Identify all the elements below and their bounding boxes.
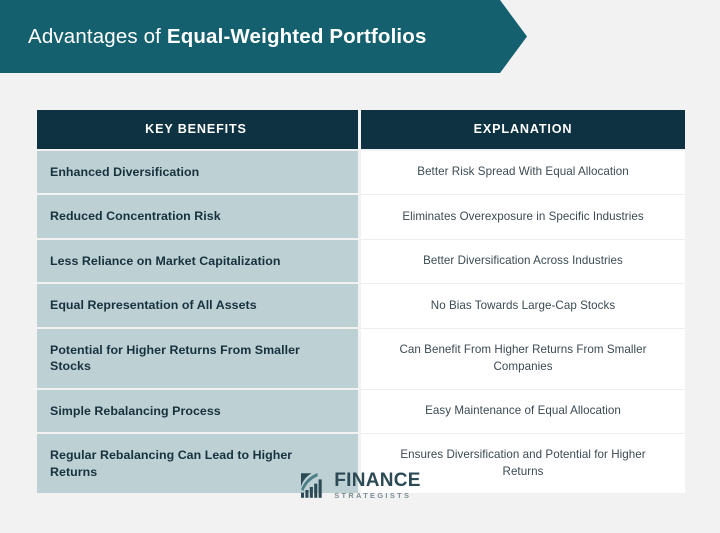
benefit-cell: Less Reliance on Market Capitalization [37,240,358,285]
benefit-cell: Simple Rebalancing Process [37,390,358,435]
footer: FINANCE STRATEGISTS [0,470,720,500]
page-title-plain: Advantages of [28,25,167,48]
benefit-cell: Equal Representation of All Assets [37,284,358,329]
benefit-cell: Enhanced Diversification [37,151,358,196]
brand-name: FINANCE [334,471,421,490]
table-row: Equal Representation of All Assets No Bi… [37,284,685,329]
explanation-cell: Easy Maintenance of Equal Allocation [361,390,685,435]
header-banner: Advantages of Equal-Weighted Portfolios [0,0,527,73]
chart-bars-swoosh-icon [299,470,329,500]
brand-logo: FINANCE STRATEGISTS [299,470,421,500]
explanation-cell: Can Benefit From Higher Returns From Sma… [361,329,685,390]
benefits-table: KEY BENEFITS EXPLANATION Enhanced Divers… [37,110,685,493]
benefit-cell: Reduced Concentration Risk [37,195,358,240]
explanation-cell: Eliminates Overexposure in Specific Indu… [361,195,685,240]
brand-logo-text: FINANCE STRATEGISTS [334,471,421,500]
table-header-row: KEY BENEFITS EXPLANATION [37,110,685,151]
page-title: Advantages of Equal-Weighted Portfolios [0,25,427,49]
explanation-cell: No Bias Towards Large-Cap Stocks [361,284,685,329]
table-row: Potential for Higher Returns From Smalle… [37,329,685,390]
table-row: Less Reliance on Market Capitalization B… [37,240,685,285]
header-banner-shape: Advantages of Equal-Weighted Portfolios [0,0,527,73]
table-row: Simple Rebalancing Process Easy Maintena… [37,390,685,435]
table-row: Reduced Concentration Risk Eliminates Ov… [37,195,685,240]
brand-tagline: STRATEGISTS [334,491,421,500]
explanation-cell: Better Diversification Across Industries [361,240,685,285]
page-title-bold: Equal-Weighted Portfolios [167,25,427,48]
benefit-cell: Potential for Higher Returns From Smalle… [37,329,358,390]
explanation-cell: Better Risk Spread With Equal Allocation [361,151,685,196]
column-header-explanation: EXPLANATION [361,110,685,149]
table-row: Enhanced Diversification Better Risk Spr… [37,151,685,196]
column-header-key-benefits: KEY BENEFITS [37,110,358,149]
